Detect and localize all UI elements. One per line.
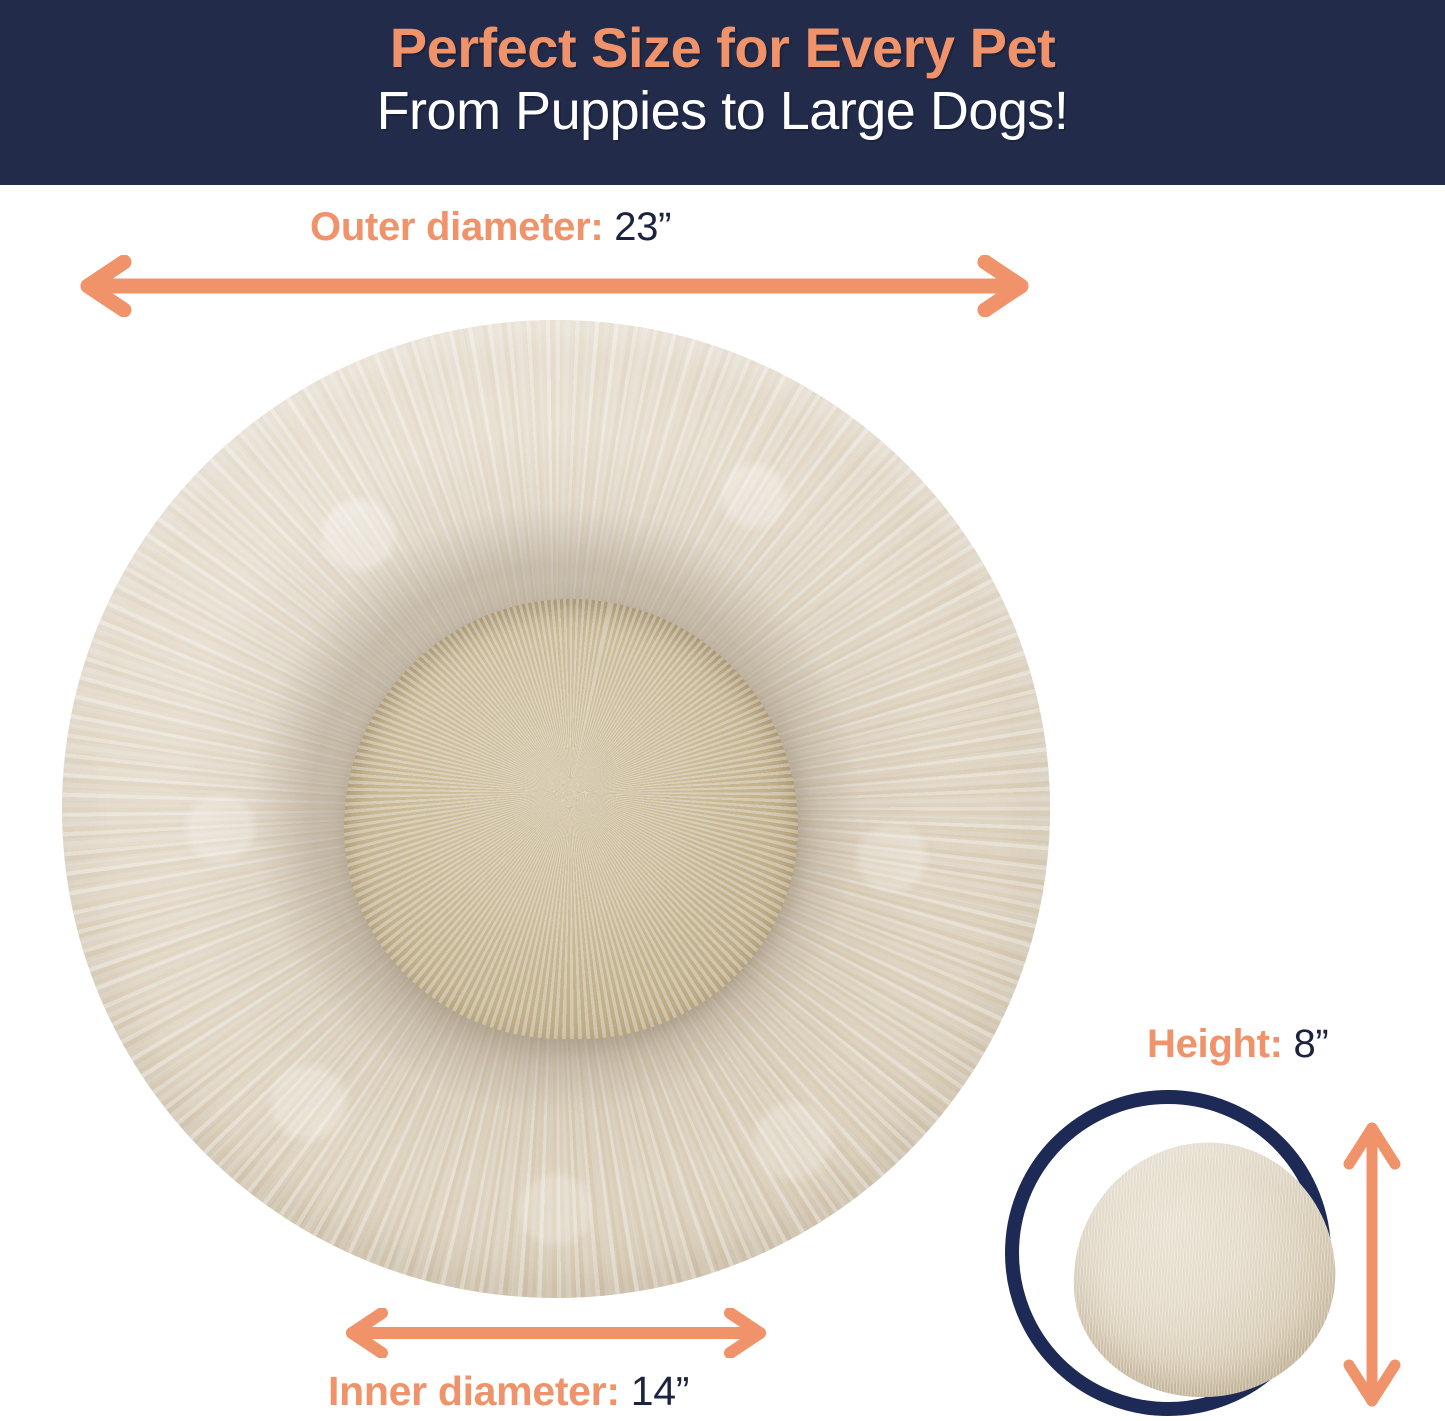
infographic-page: Perfect Size for Every Pet From Puppies … xyxy=(0,0,1445,1421)
pet-bed-inner-cushion xyxy=(344,599,798,1039)
pet-bed-top-view-image xyxy=(62,320,1050,1298)
height-arrow-icon xyxy=(1337,1108,1407,1421)
inner-fur-texture xyxy=(344,599,798,1039)
inner-diameter-value: 14” xyxy=(631,1368,689,1414)
outer-diameter-value: 23” xyxy=(614,205,671,249)
header-banner: Perfect Size for Every Pet From Puppies … xyxy=(0,0,1445,185)
pet-bed-outer-bolster xyxy=(62,320,1050,1298)
banner-title: Perfect Size for Every Pet xyxy=(0,18,1445,78)
outer-diameter-label-text: Outer diameter: xyxy=(310,205,603,249)
inner-diameter-label: Inner diameter: 14” xyxy=(328,1368,689,1415)
inner-diameter-label-text: Inner diameter: xyxy=(328,1368,620,1414)
height-label: Height: 8” xyxy=(1147,1022,1328,1067)
height-value: 8” xyxy=(1293,1022,1328,1066)
pet-bed-side-view-image xyxy=(1064,1134,1343,1406)
outer-diameter-label: Outer diameter: 23” xyxy=(310,205,671,250)
outer-diameter-arrow-icon xyxy=(62,255,1047,317)
banner-subtitle: From Puppies to Large Dogs! xyxy=(0,82,1445,140)
height-label-text: Height: xyxy=(1147,1022,1283,1066)
inner-diameter-arrow-icon xyxy=(330,1308,782,1358)
